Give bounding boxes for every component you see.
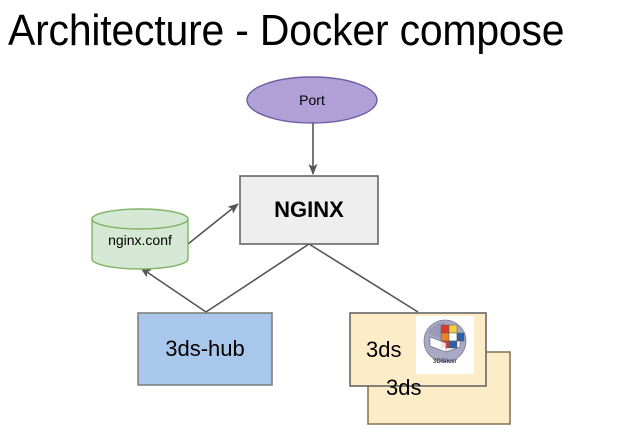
edge-3ds-hub-to-nginx-conf	[141, 268, 206, 312]
slide-canvas: Architecture - Docker compose	[0, 0, 641, 436]
node-3ds-hub[interactable]	[138, 313, 272, 385]
node-nginx-conf[interactable]	[92, 209, 188, 269]
architecture-diagram	[0, 0, 641, 436]
3dslicer-logo-caption: 3DSlicer	[418, 359, 472, 365]
node-nginx[interactable]	[240, 176, 378, 244]
3dslicer-logo: 3DSlicer	[416, 316, 474, 374]
edge-nginx-to-3ds	[309, 244, 418, 312]
edge-nginx-to-3ds-hub	[206, 244, 309, 312]
edge-nginx-conf-to-nginx	[183, 204, 238, 248]
3dslicer-logo-mark	[416, 316, 474, 374]
node-port[interactable]	[247, 77, 377, 123]
